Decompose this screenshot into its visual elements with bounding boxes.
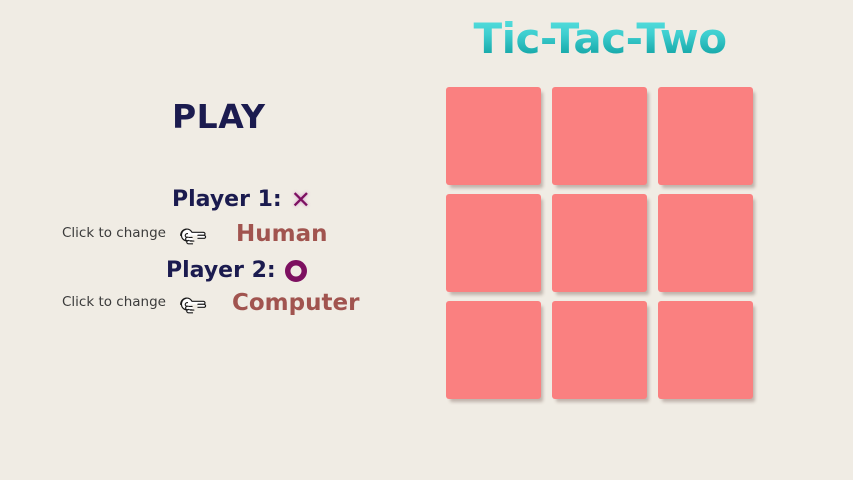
game-board [446,87,753,400]
board-cell[interactable] [658,87,753,185]
player-2-label: Player 2: [166,260,276,282]
player-2-row: Player 2: [166,260,307,282]
pointing-hand-icon [174,222,214,248]
player-1-change-hint: Click to change [62,227,166,241]
player-2-kind[interactable]: Computer [232,292,359,315]
board-cell[interactable] [552,301,647,399]
player-1-change-row[interactable]: Click to change Human [62,221,327,247]
player-1-kind[interactable]: Human [236,223,327,246]
board-cell[interactable] [552,194,647,292]
game-screen: Tic-Tac-Two PLAY Player 1: ✕ Click to ch… [0,0,853,480]
board-cell[interactable] [658,301,753,399]
player-1-label: Player 1: [172,189,282,211]
play-heading: PLAY [172,100,266,133]
board-cell[interactable] [446,194,541,292]
board-cell[interactable] [446,301,541,399]
player-2-change-row[interactable]: Click to change Computer [62,290,359,316]
board-cell[interactable] [552,87,647,185]
player-1-row: Player 1: ✕ [172,188,311,212]
board-cell[interactable] [658,194,753,292]
player-2-change-hint: Click to change [62,296,166,310]
x-mark-icon: ✕ [291,188,311,212]
o-mark-icon [285,260,307,282]
page-title: Tic-Tac-Two [446,18,754,60]
board-cell[interactable] [446,87,541,185]
pointing-hand-icon [174,291,214,317]
